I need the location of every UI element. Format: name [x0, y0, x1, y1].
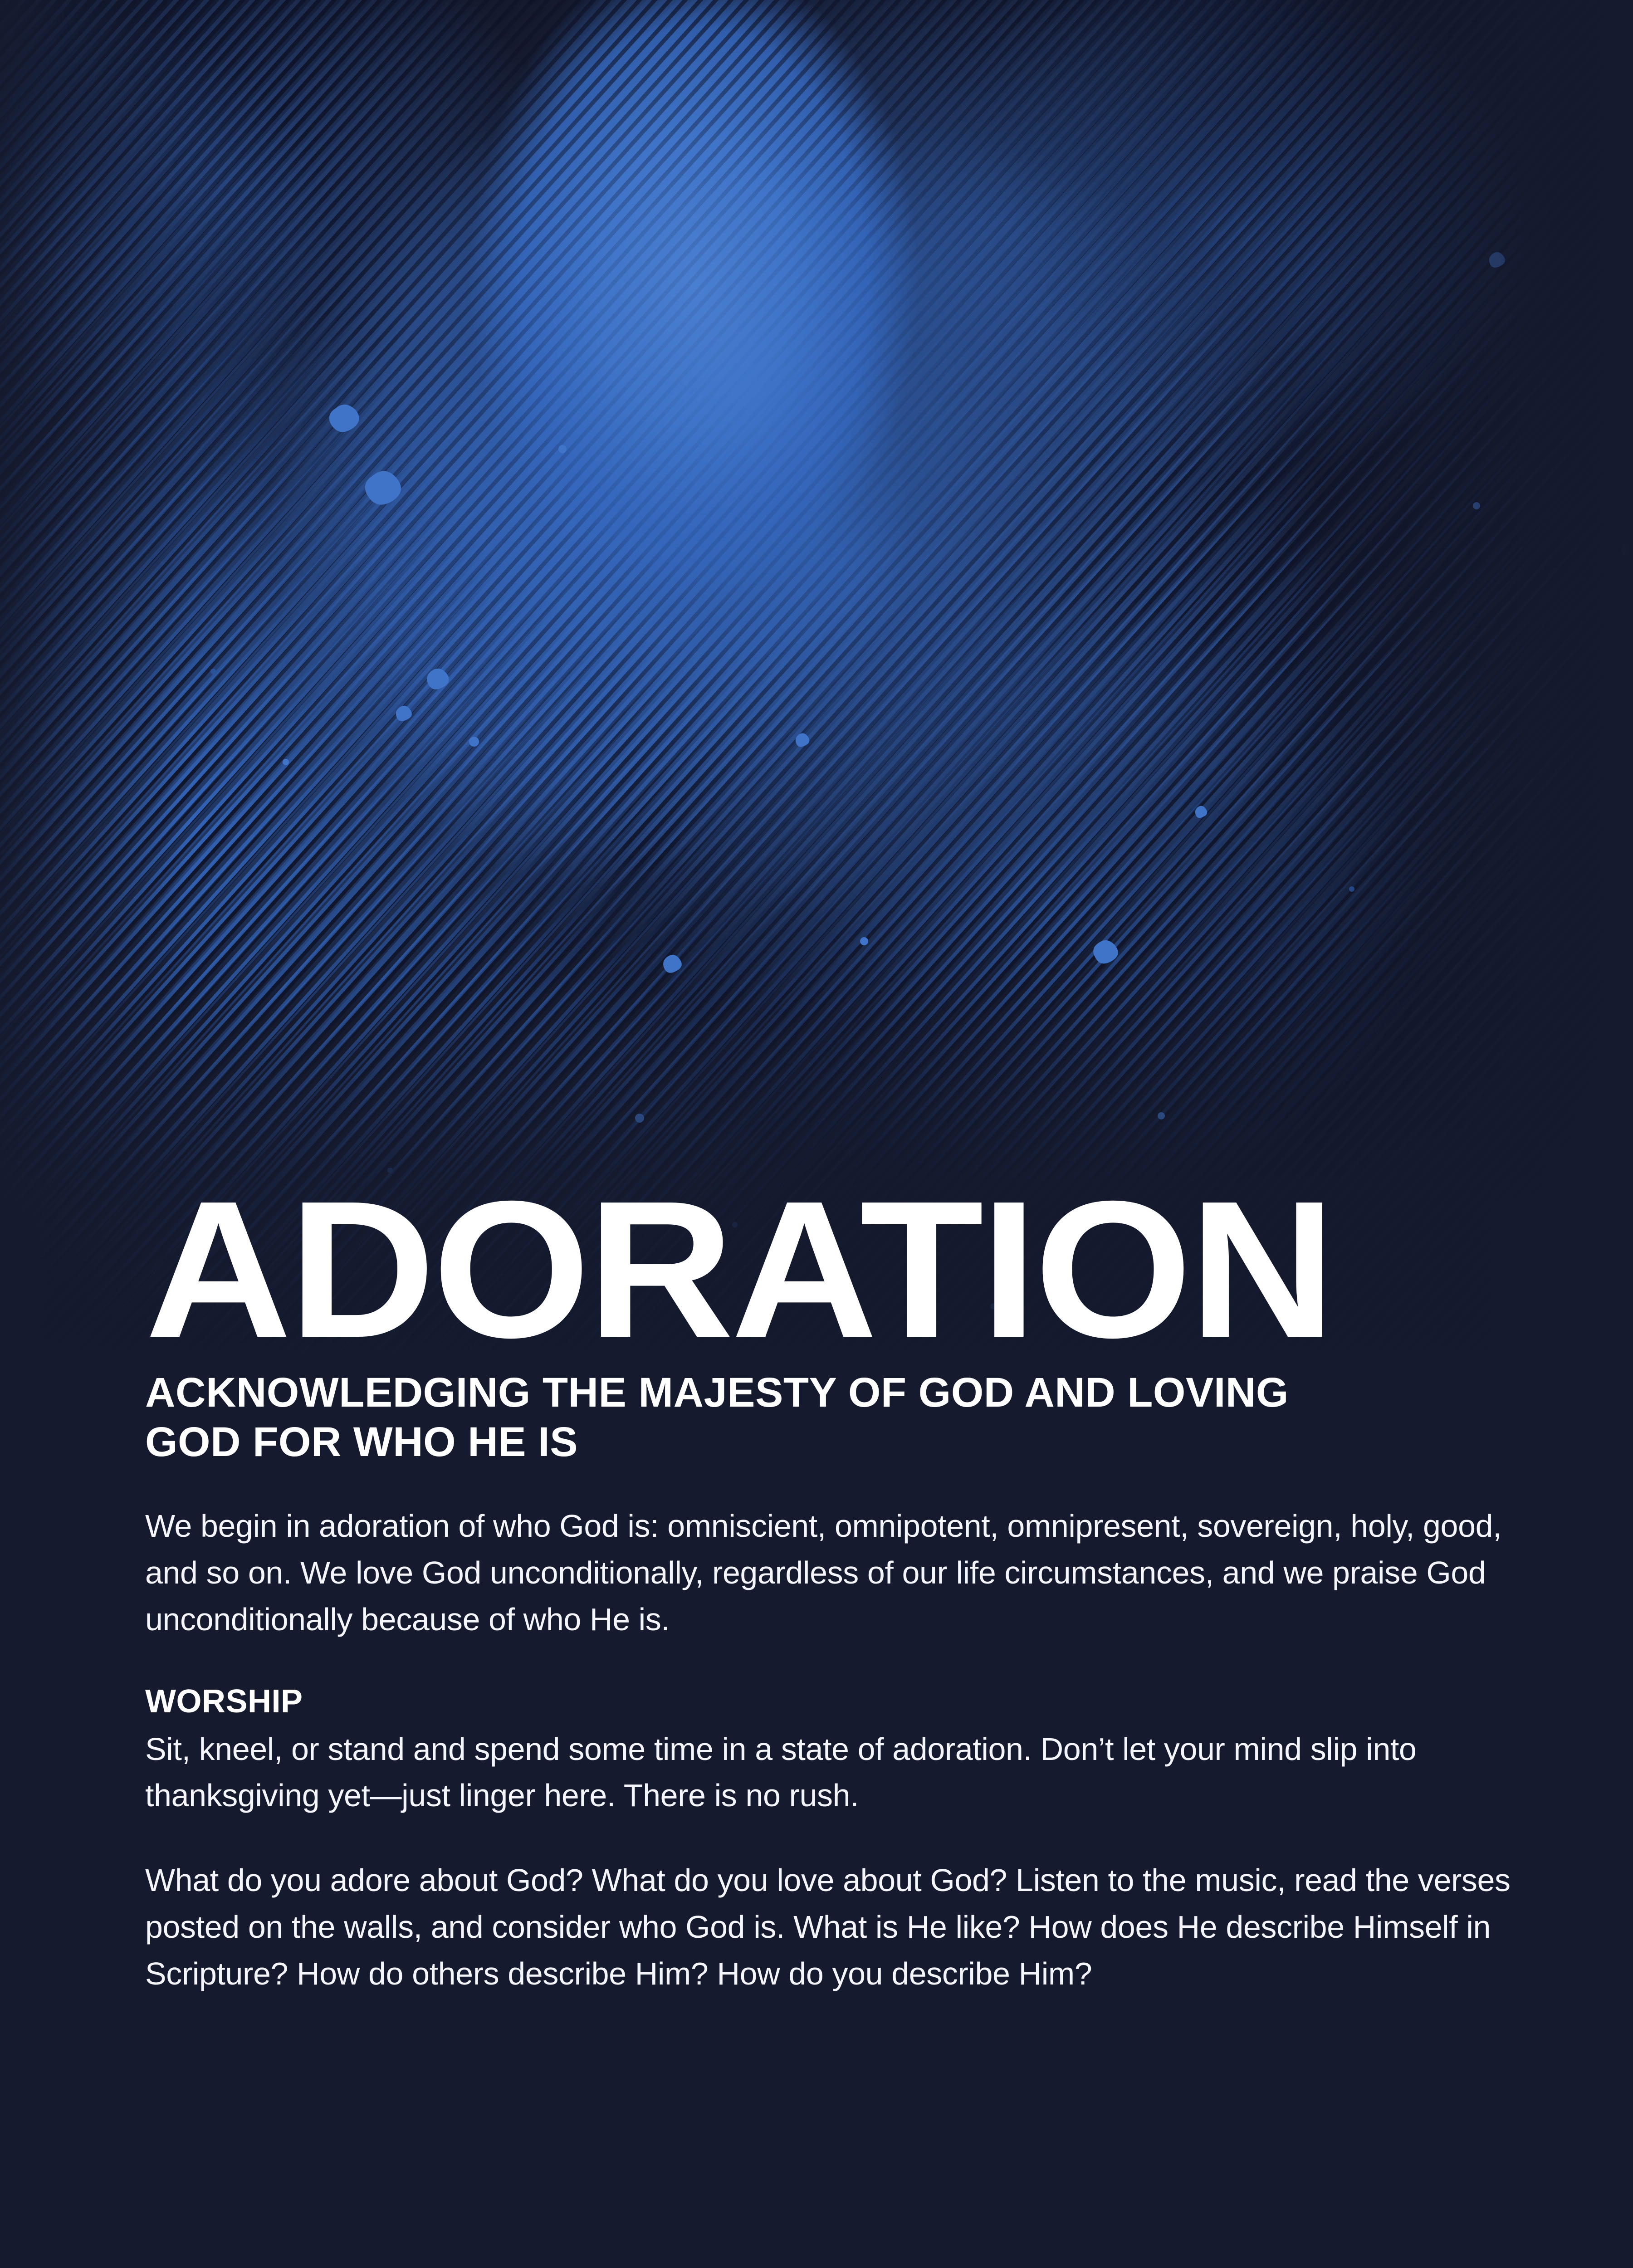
spacer [145, 1819, 1556, 1857]
worship-paragraph: Sit, kneel, or stand and spend some time… [145, 1726, 1556, 1819]
poster-page: ADORATION ACKNOWLEDGING THE MAJESTY OF G… [0, 0, 1633, 2268]
spacer [145, 1643, 1556, 1682]
body-content: We begin in adoration of who God is: omn… [145, 1503, 1556, 1997]
poster-content: ADORATION ACKNOWLEDGING THE MAJESTY OF G… [145, 1184, 1556, 1997]
page-title: ADORATION [145, 1184, 1612, 1355]
page-subtitle: ACKNOWLEDGING THE MAJESTY OF GOD AND LOV… [145, 1368, 1370, 1466]
questions-paragraph: What do you adore about God? What do you… [145, 1857, 1556, 1997]
spacer [145, 1721, 1556, 1726]
worship-heading: WORSHIP [145, 1682, 1556, 1721]
intro-paragraph: We begin in adoration of who God is: omn… [145, 1503, 1556, 1643]
